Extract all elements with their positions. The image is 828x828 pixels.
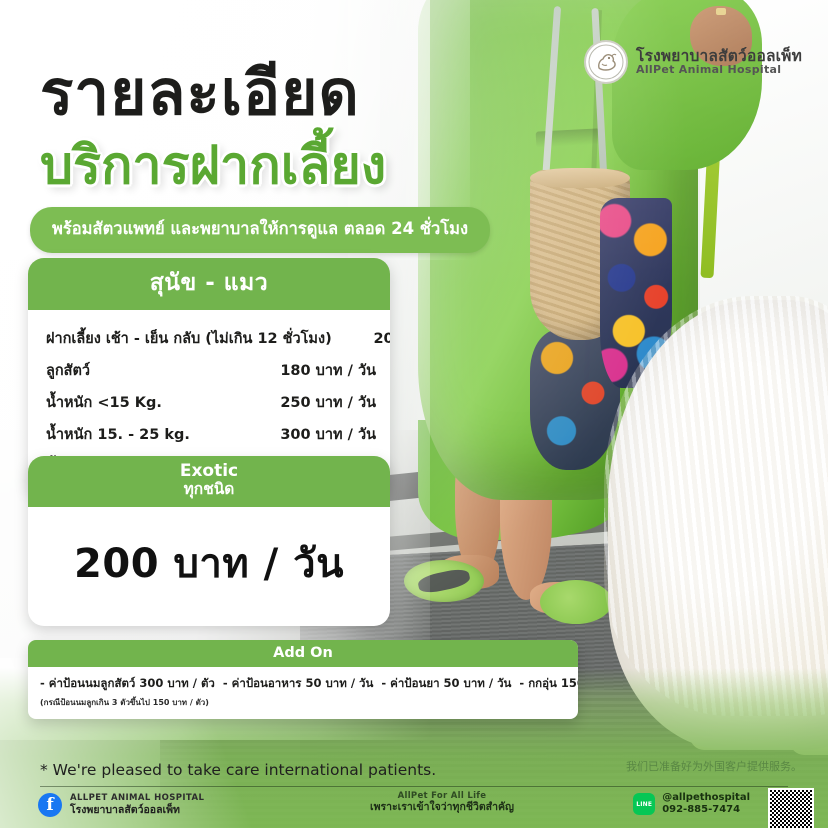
row-price: 180 บาท / วัน — [272, 359, 376, 382]
phone-number: 092-885-7474 — [662, 804, 750, 816]
brand-name-en: AllPet Animal Hospital — [636, 64, 802, 76]
qr-code-icon[interactable] — [768, 788, 814, 828]
row-price: 200 บาท — [332, 327, 390, 350]
addon-item-text: - ค่าป้อนอาหาร 50 บาท / วัน — [223, 675, 373, 693]
pricing-card-addon: Add On - ค่าป้อนนมลูกสัตว์ 300 บาท / ตัว… — [28, 640, 578, 719]
footer-line-contact[interactable]: LINE @allpethospital 092-885-7474 — [633, 792, 750, 816]
tagline-th: เพราะเราเข้าใจว่าทุกชีวิตสำคัญ — [370, 801, 514, 814]
row-label: น้ำหนัก 15. - 25 kg. — [46, 423, 190, 446]
row-label: ฝากเลี้ยง เช้า - เย็น กลับ (ไม่เกิน 12 ช… — [46, 327, 332, 350]
exotic-price: 200 บาท / วัน — [74, 531, 344, 595]
tagline-en: AllPet For All Life — [370, 791, 514, 801]
list-item: - กกอุ่น 150 บาท / วัน — [519, 675, 578, 693]
international-patients-note: * We're pleased to take care internation… — [40, 761, 436, 779]
list-item: - ค่าป้อนอาหาร 50 บาท / วัน — [223, 675, 373, 693]
card-heading-exotic-line1: Exotic — [28, 463, 390, 481]
pricing-card-exotic: Exotic ทุกชนิด 200 บาท / วัน — [28, 456, 390, 626]
addon-items: - ค่าป้อนนมลูกสัตว์ 300 บาท / ตัว (กรณีป… — [28, 667, 578, 719]
row-price: 300 บาท / วัน — [272, 423, 376, 446]
line-id: @allpethospital — [662, 792, 750, 804]
line-badge-label: LINE — [636, 801, 652, 808]
card-heading-exotic-line2: ทุกชนิด — [28, 481, 390, 498]
facebook-name-th: โรงพยาบาลสัตว์ออลเพ็ท — [70, 804, 204, 816]
line-icon[interactable]: LINE — [633, 793, 655, 815]
brand-logo: โรงพยาบาลสัตว์ออลเพ็ท AllPet Animal Hosp… — [584, 40, 802, 84]
allpet-dog-cat-logo-icon — [584, 40, 628, 84]
chinese-service-note: 我们已准备好为外国客户提供服务。 — [626, 758, 802, 774]
card-heading-dogs-cats: สุนัข - แมว — [28, 258, 390, 310]
footer-facebook-contact[interactable]: f ALLPET ANIMAL HOSPITAL โรงพยาบาลสัตว์อ… — [38, 793, 204, 817]
card-heading-exotic: Exotic ทุกชนิด — [28, 456, 390, 507]
row-label: ลูกสัตว์ — [46, 359, 90, 382]
addon-item-text: - กกอุ่น 150 บาท / วัน — [519, 675, 578, 693]
addon-item-text: - ค่าป้อนยา 50 บาท / วัน — [381, 675, 511, 693]
addon-item-text: - ค่าป้อนนมลูกสัตว์ 300 บาท / ตัว — [40, 675, 215, 693]
footer-divider — [40, 786, 788, 787]
table-row: ฝากเลี้ยง เช้า - เย็น กลับ (ไม่เกิน 12 ช… — [46, 322, 376, 354]
table-row: ลูกสัตว์ 180 บาท / วัน — [46, 354, 376, 386]
subtitle-pill: พร้อมสัตวแพทย์ และพยาบาลให้การดูแล ตลอด … — [30, 207, 490, 253]
list-item: - ค่าป้อนยา 50 บาท / วัน — [381, 675, 511, 693]
facebook-name-en: ALLPET ANIMAL HOSPITAL — [70, 794, 204, 804]
row-label: น้ำหนัก <15 Kg. — [46, 391, 162, 414]
facebook-icon[interactable]: f — [38, 793, 62, 817]
table-row: น้ำหนัก 15. - 25 kg. 300 บาท / วัน — [46, 418, 376, 450]
addon-item-note: (กรณีป้อนนมลูกเกิน 3 ตัวขึ้นไป 150 บาท /… — [40, 696, 215, 709]
page-title: รายละเอียด — [40, 62, 360, 124]
row-price: 250 บาท / วัน — [272, 391, 376, 414]
table-row: น้ำหนัก <15 Kg. 250 บาท / วัน — [46, 386, 376, 418]
exotic-price-area: 200 บาท / วัน — [28, 507, 390, 619]
card-heading-addon: Add On — [28, 640, 578, 667]
brand-name-th: โรงพยาบาลสัตว์ออลเพ็ท — [636, 48, 802, 64]
footer-tagline: AllPet For All Life เพราะเราเข้าใจว่าทุก… — [370, 791, 514, 814]
list-item: - ค่าป้อนนมลูกสัตว์ 300 บาท / ตัว (กรณีป… — [40, 675, 215, 709]
page-subtitle-service: บริการฝากเลี้ยง — [40, 140, 386, 192]
